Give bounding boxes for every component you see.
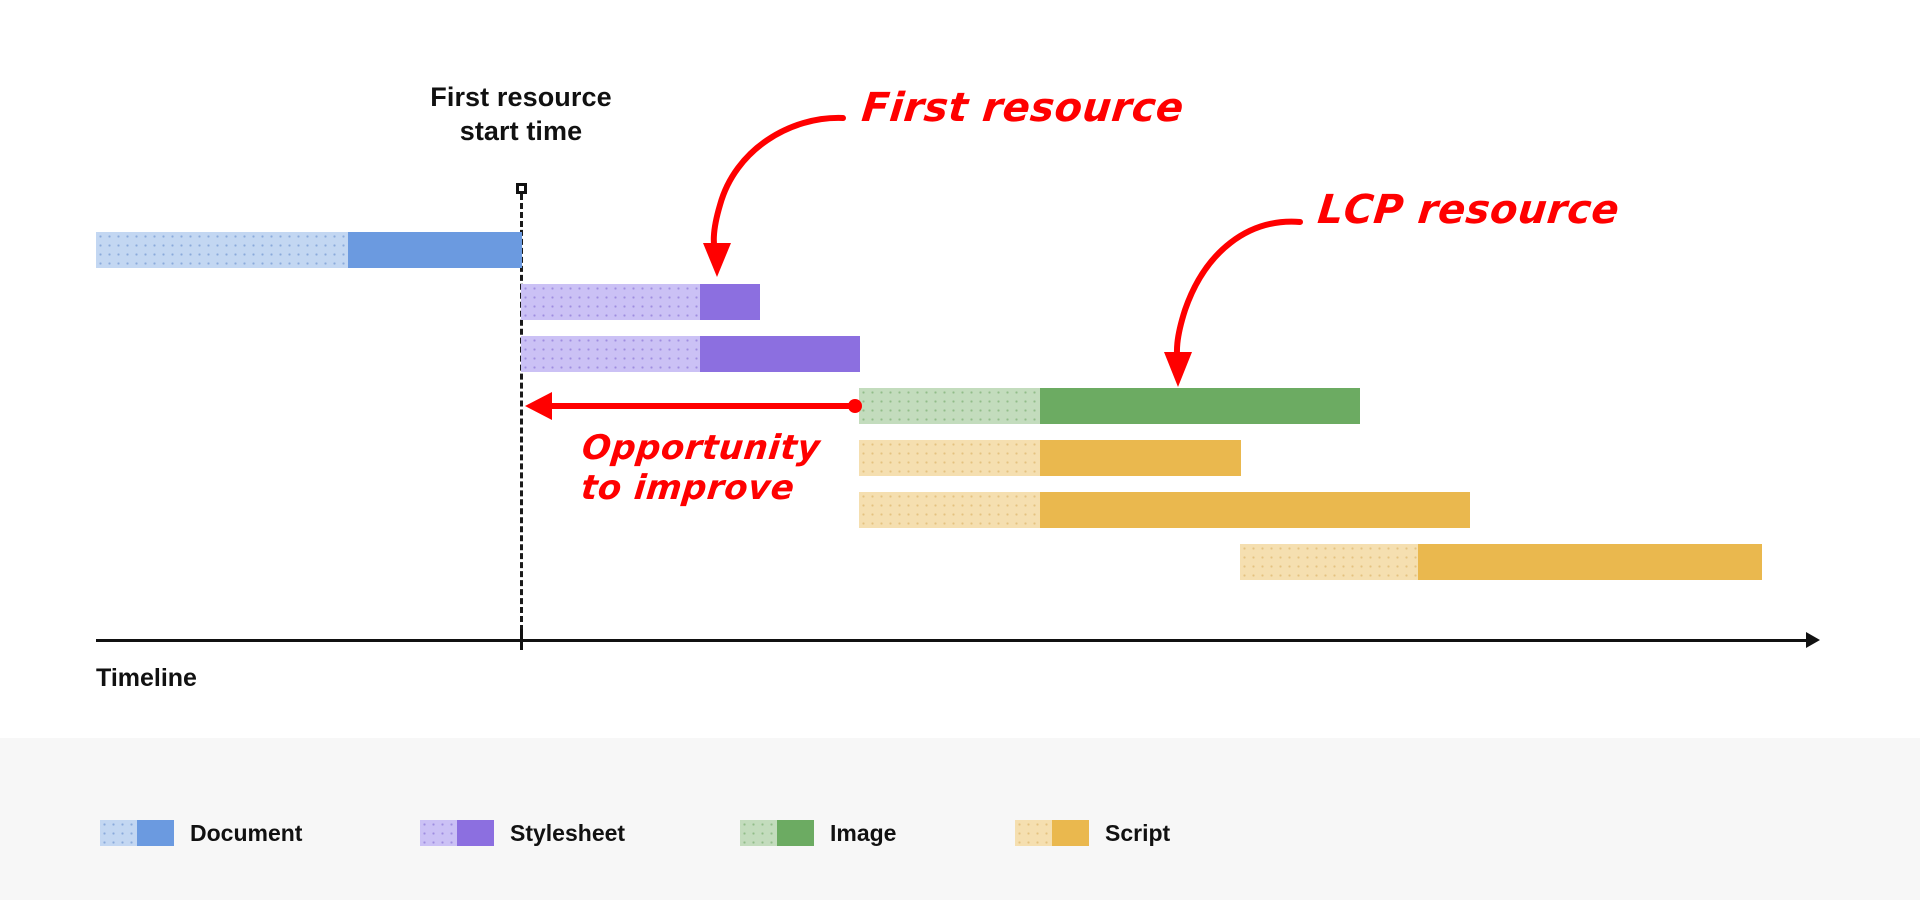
bar-document-light [96, 232, 348, 268]
first-resource-start-time-label: First resource start time [421, 80, 621, 148]
marker-label-line1: First resource [421, 80, 621, 114]
bar-stylesheet-2-solid [700, 336, 860, 372]
legend-swatch-script-icon [1015, 820, 1089, 846]
bar-stylesheet-1-light [521, 284, 700, 320]
bar-stylesheet-1-solid [700, 284, 760, 320]
legend-item-stylesheet[interactable]: Stylesheet [420, 818, 625, 848]
legend-label-stylesheet: Stylesheet [510, 820, 625, 847]
bar-script-2-solid [1040, 492, 1470, 528]
legend-label-image: Image [830, 820, 896, 847]
chart-legend: Document Stylesheet Image [0, 738, 1920, 900]
legend-item-document[interactable]: Document [100, 818, 302, 848]
marker-label-line2: start time [421, 114, 621, 148]
legend-label-document: Document [190, 820, 302, 847]
first-resource-marker-cap [516, 183, 527, 194]
bar-script-2 [859, 492, 1470, 528]
lcp-resource-timeline-figure: First resource start time [0, 0, 1920, 900]
chart-plot-area: First resource start time [0, 0, 1920, 738]
bar-script-3-solid [1418, 544, 1762, 580]
bar-stylesheet-2-light [521, 336, 700, 372]
legend-swatch-document-icon [100, 820, 174, 846]
bar-document-solid [348, 232, 522, 268]
lcp-resource-arrow-curve [1177, 222, 1300, 365]
timeline-axis-line [96, 639, 1810, 642]
annotation-first-resource: First resource [860, 86, 1186, 130]
legend-swatch-stylesheet-icon [420, 820, 494, 846]
timeline-axis-arrow [1806, 632, 1820, 648]
first-resource-arrowhead [703, 243, 731, 277]
legend-item-image[interactable]: Image [740, 818, 896, 848]
bar-image-solid [1040, 388, 1360, 424]
annotation-lcp-resource: LCP resource [1316, 188, 1622, 232]
bar-script-1-solid [1040, 440, 1241, 476]
bar-image-light [859, 388, 1040, 424]
annotation-opportunity: Opportunity to improve [576, 428, 804, 508]
timeline-axis-label: Timeline [96, 664, 197, 693]
legend-swatch-image-icon [740, 820, 814, 846]
legend-row: Document Stylesheet Image [0, 738, 1920, 900]
timeline-axis-tick [520, 629, 523, 650]
legend-label-script: Script [1105, 820, 1170, 847]
first-resource-arrow-curve [714, 118, 843, 256]
annotation-opportunity-line1: Opportunity [580, 428, 804, 468]
bar-image-lcp [859, 388, 1360, 424]
bar-script-3 [1240, 544, 1762, 580]
opportunity-arrowhead [525, 392, 552, 420]
legend-item-script[interactable]: Script [1015, 818, 1170, 848]
bar-stylesheet-2 [521, 336, 860, 372]
bar-script-2-light [859, 492, 1040, 528]
bar-document [96, 232, 522, 268]
annotation-opportunity-line2: to improve [576, 468, 800, 508]
lcp-resource-arrowhead [1164, 352, 1192, 387]
bar-script-3-light [1240, 544, 1418, 580]
bar-stylesheet-1 [521, 284, 760, 320]
bar-script-1-light [859, 440, 1040, 476]
bar-script-1 [859, 440, 1241, 476]
